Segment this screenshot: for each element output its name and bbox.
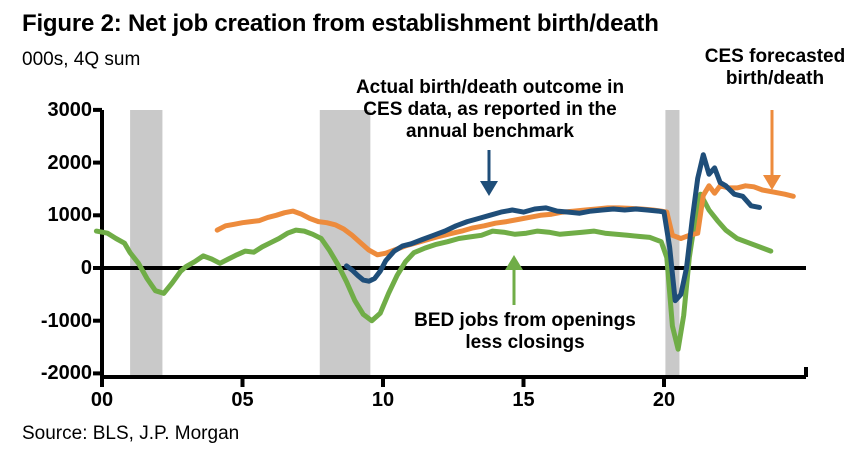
y-tick-label--2000: -2000 bbox=[8, 363, 92, 383]
y-tick-label-0: 0 bbox=[8, 258, 92, 278]
series-line-1 bbox=[217, 186, 793, 255]
source-note: Source: BLS, J.P. Morgan bbox=[22, 423, 239, 445]
x-tick-label-2005: 05 bbox=[213, 389, 273, 412]
y-tick-label-1000: 1000 bbox=[8, 205, 92, 225]
y-tick-label-3000: 3000 bbox=[8, 100, 92, 120]
arrow-ces-forecast-head bbox=[763, 175, 781, 190]
x-tick-label-2015: 15 bbox=[494, 389, 554, 412]
arrow-bed-head bbox=[505, 255, 523, 270]
recession-band-1 bbox=[130, 110, 162, 377]
x-tick-label-2000: 00 bbox=[72, 389, 132, 412]
annotation-ces-actual: Actual birth/death outcome in CES data, … bbox=[350, 77, 630, 143]
x-tick-label-2020: 20 bbox=[634, 389, 694, 412]
arrow-ces-actual-head bbox=[480, 181, 498, 196]
y-tick-label-2000: 2000 bbox=[8, 153, 92, 173]
y-tick-label--1000: -1000 bbox=[8, 311, 92, 331]
annotation-bed: BED jobs from openings less closings bbox=[395, 310, 655, 354]
figure-root: Figure 2: Net job creation from establis… bbox=[0, 0, 852, 459]
x-tick-label-2010: 10 bbox=[353, 389, 413, 412]
annotation-ces-forecast: CES forecasted birth/death bbox=[700, 46, 850, 90]
